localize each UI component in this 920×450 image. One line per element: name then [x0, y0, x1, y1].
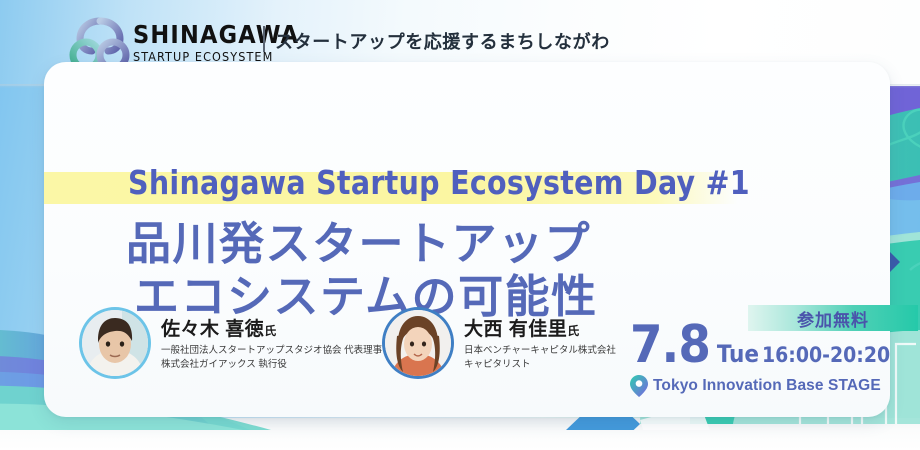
- speaker-2-text: 大西 有佳里氏 日本ベンチャーキャピタル株式会社 キャピタリスト: [464, 314, 616, 372]
- speaker-2-org-line1: 日本ベンチャーキャピタル株式会社: [464, 344, 616, 358]
- speaker-2-suffix: 氏: [567, 324, 580, 338]
- event-date-line: 7.8 Tue 16:00-20:20: [630, 319, 890, 371]
- speaker-2-org: 日本ベンチャーキャピタル株式会社 キャピタリスト: [464, 344, 616, 372]
- speaker-1: 佐々木 喜徳氏 一般社団法人スタートアップスタジオ協会 代表理事 / 株式会社ガ…: [82, 310, 387, 376]
- speaker-1-suffix: 氏: [264, 324, 277, 338]
- location-pin-icon: [630, 375, 648, 397]
- speaker-1-org-line2: 株式会社ガイアックス 執行役: [161, 358, 387, 372]
- event-date: 7.8: [630, 319, 710, 371]
- event-venue-label: Tokyo Innovation Base STAGE: [653, 377, 881, 395]
- header-divider: [263, 26, 265, 52]
- event-time: 16:00-20:20: [762, 343, 890, 367]
- header-tagline: スタートアップを応援するまちしながわ: [275, 28, 610, 54]
- speaker-2-name: 大西 有佳里氏: [464, 314, 616, 341]
- event-day-of-week: Tue: [717, 340, 759, 368]
- speaker-1-avatar: [82, 310, 148, 376]
- speaker-2-org-line2: キャピタリスト: [464, 358, 616, 372]
- speaker-1-name: 佐々木 喜徳氏: [161, 314, 387, 341]
- event-headline: 品川発スタートアップ エコシステムの可能性: [126, 217, 598, 323]
- speaker-1-org-line1: 一般社団法人スタートアップスタジオ協会 代表理事 /: [161, 344, 387, 358]
- speaker-2: 大西 有佳里氏 日本ベンチャーキャピタル株式会社 キャピタリスト: [385, 310, 616, 376]
- event-banner: SHINAGAWA STARTUP ECOSYSTEM スタートアップを応援する…: [0, 0, 920, 450]
- speaker-2-avatar: [385, 310, 451, 376]
- event-title-en: Shinagawa Startup Ecosystem Day #1: [128, 163, 750, 202]
- headline-line-1: 品川発スタートアップ: [126, 218, 591, 269]
- speaker-1-org: 一般社団法人スタートアップスタジオ協会 代表理事 / 株式会社ガイアックス 執行…: [161, 344, 387, 372]
- background-bottom-strip: [0, 418, 920, 450]
- speaker-1-text: 佐々木 喜徳氏 一般社団法人スタートアップスタジオ協会 代表理事 / 株式会社ガ…: [161, 314, 387, 372]
- event-venue: Tokyo Innovation Base STAGE: [630, 375, 881, 397]
